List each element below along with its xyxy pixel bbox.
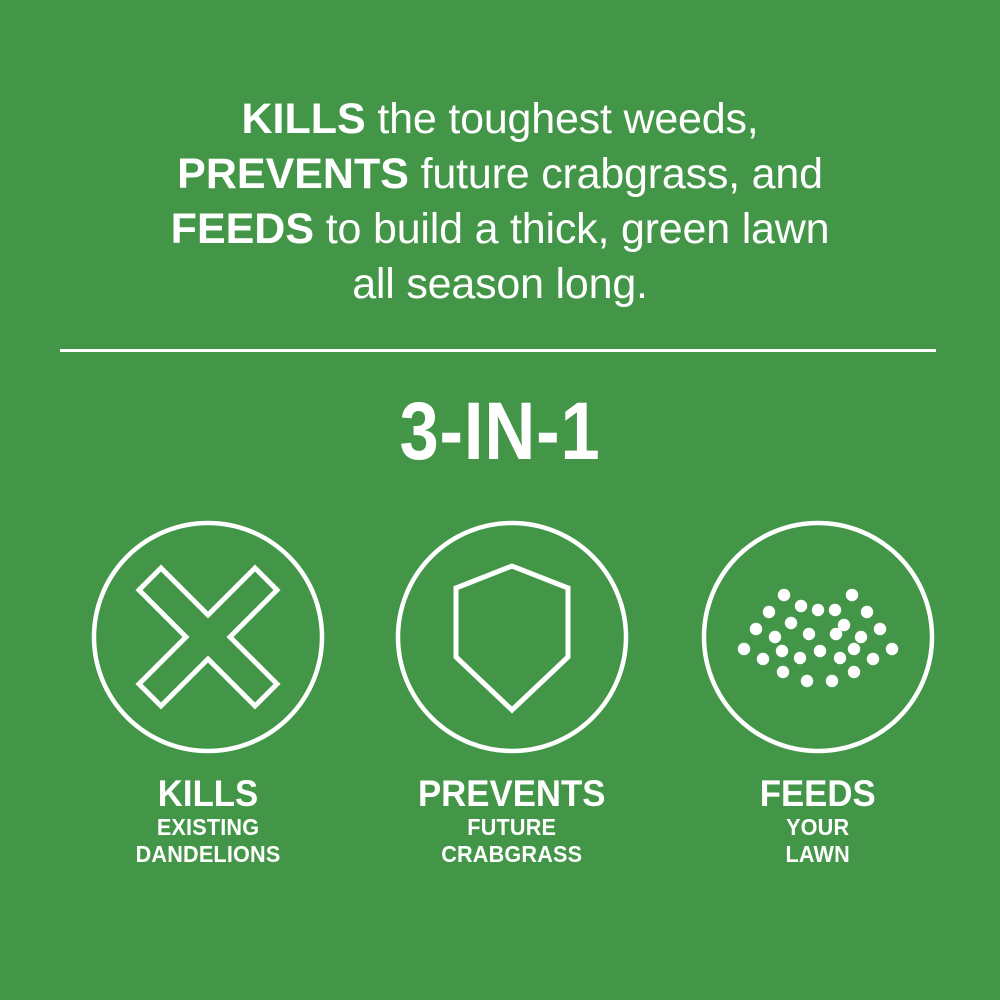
headline-line-3-rest: to build a thick, green lawn: [314, 205, 829, 253]
feature-subtitle-line-1: YOUR: [760, 814, 876, 841]
shield-icon: [393, 518, 631, 756]
feature-caption-prevents: PREVENTS FUTURE CRABGRASS: [412, 774, 611, 868]
feature-subtitle-line-2: CRABGRASS: [418, 841, 605, 868]
headline-line-1-rest: the toughest weeds,: [366, 95, 759, 143]
feature-subtitle-line-2: LAWN: [760, 841, 876, 868]
headline-line-4: all season long.: [0, 257, 1000, 312]
horizontal-divider: [60, 349, 936, 352]
feature-item-prevents: PREVENTS FUTURE CRABGRASS: [357, 518, 667, 868]
headline-line-2: PREVENTS future crabgrass, and: [0, 147, 1000, 202]
feature-title: PREVENTS: [418, 774, 605, 814]
feature-caption-kills: KILLS EXISTING DANDELIONS: [131, 774, 285, 868]
headline-line-3-emphasis: FEEDS: [171, 205, 314, 253]
headline-line-2-rest: future crabgrass, and: [409, 150, 823, 198]
headline-block: KILLS the toughest weeds, PREVENTS futur…: [0, 92, 1000, 312]
promo-graphic: KILLS the toughest weeds, PREVENTS futur…: [0, 0, 1000, 1000]
feature-subtitle-line-2: DANDELIONS: [136, 841, 281, 868]
feature-row: KILLS EXISTING DANDELIONS PREVENTS FUTUR…: [0, 518, 1000, 898]
headline-line-1: KILLS the toughest weeds,: [0, 92, 1000, 147]
headline-line-1-emphasis: KILLS: [241, 95, 365, 143]
granules-icon: [699, 518, 937, 756]
headline-line-2-emphasis: PREVENTS: [177, 150, 409, 198]
feature-title: FEEDS: [760, 774, 876, 814]
x-mark-icon: [89, 518, 327, 756]
feature-item-feeds: FEEDS YOUR LAWN: [663, 518, 973, 868]
feature-item-kills: KILLS EXISTING DANDELIONS: [53, 518, 363, 868]
feature-title: KILLS: [136, 774, 281, 814]
feature-caption-feeds: FEEDS YOUR LAWN: [756, 774, 879, 868]
feature-subtitle-line-1: FUTURE: [418, 814, 605, 841]
feature-subtitle-line-1: EXISTING: [136, 814, 281, 841]
headline-line-3: FEEDS to build a thick, green lawn: [0, 202, 1000, 257]
three-in-one-badge: 3-IN-1: [70, 386, 930, 478]
